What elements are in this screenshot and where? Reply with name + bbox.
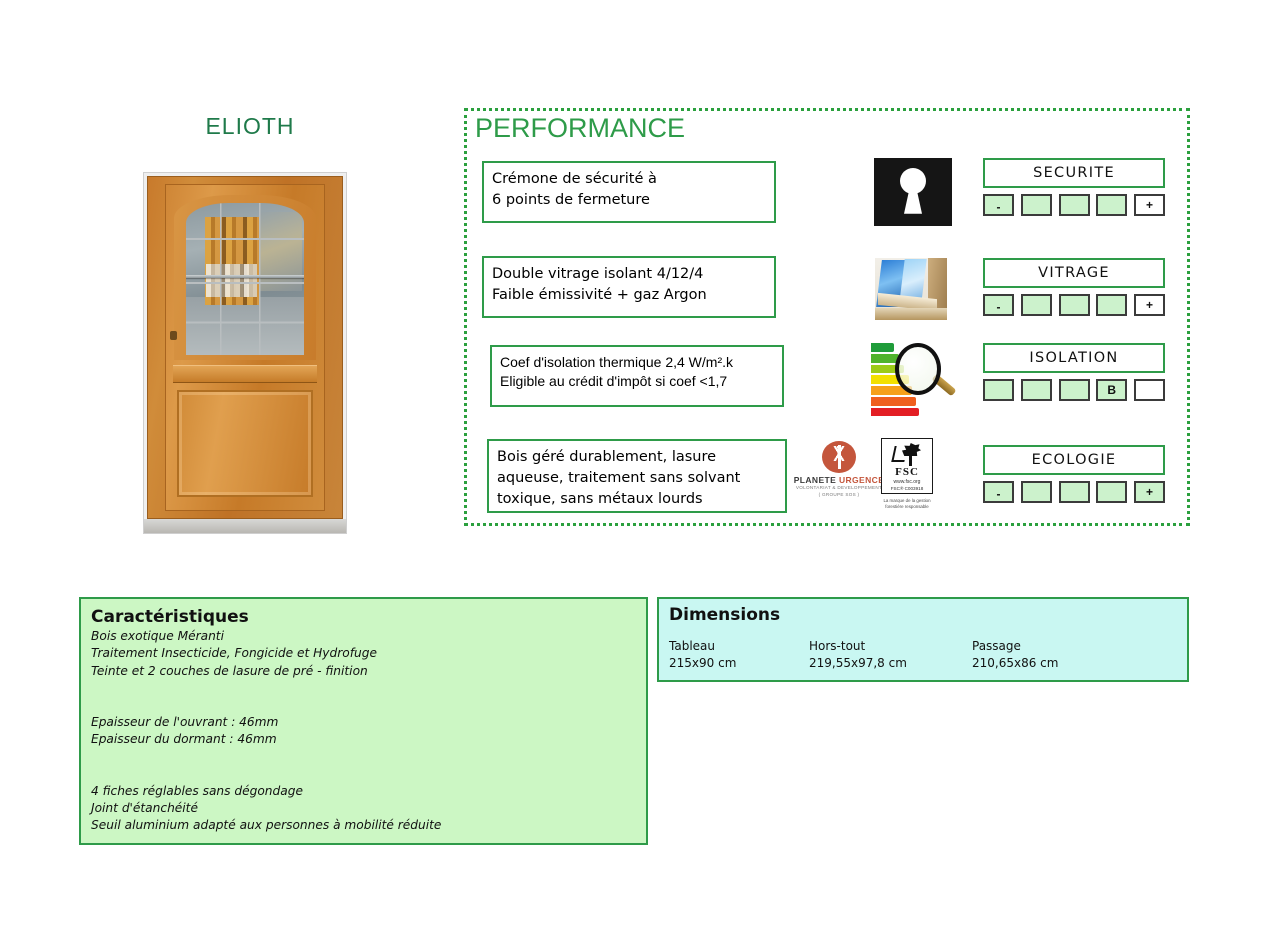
feature-line: 6 points de fermeture [492,190,766,211]
feature-box-ecology: Bois géré durablement, lasure aqueuse, t… [487,439,787,513]
feature-line: toxique, sans métaux lourds [497,489,777,510]
dimension-column-hors-tout: Hors-tout 219,55x97,8 cm [809,638,972,673]
rating-cell[interactable] [1021,481,1052,503]
feature-line: Faible émissivité + gaz Argon [492,285,766,306]
urgence-word: URGENCE [839,475,884,485]
characteristics-line: Epaisseur du dormant : 46mm [91,731,636,748]
dimensions-table: Tableau 215x90 cm Hors-tout 219,55x97,8 … [669,638,1177,673]
rating-group-ecologie: ECOLOGIE - + [983,445,1165,503]
fsc-logo-box: FSC www.fsc.org FSC® C003918 [881,438,933,494]
spacer [91,697,636,714]
rating-label: ISOLATION [983,343,1165,373]
performance-panel: PERFORMANCE Crémone de sécurité à 6 poin… [464,108,1190,526]
keyhole-icon [874,158,952,226]
fsc-tree-checkmark-icon [893,442,921,466]
fsc-code: FSC® C003918 [882,486,932,491]
characteristics-line: Joint d'étanchéité [91,800,636,817]
characteristics-line: Epaisseur de l'ouvrant : 46mm [91,714,636,731]
product-photo [143,172,347,534]
magnifier-lens [895,343,941,395]
characteristics-panel: Caractéristiques Bois exotique Méranti T… [79,597,648,845]
planete-urgence-name: PLANETE URGENCE [785,475,893,485]
rating-cell[interactable] [1021,294,1052,316]
planete-urgence-group: ( GROUPE SOS ) [785,492,893,497]
rating-cell[interactable]: - [983,294,1014,316]
rating-group-securite: SECURITE - + [983,158,1165,216]
glass-grille-icon [186,203,305,356]
feature-line: Crémone de sécurité à [492,169,766,190]
rating-cell[interactable] [1059,194,1090,216]
fsc-caption: La marque de la gestion forestière respo… [881,498,933,510]
window-glazing-icon [875,258,947,320]
dimension-header: Tableau [669,638,809,655]
door-frame [147,176,343,519]
rating-scale: - + [983,481,1165,503]
rating-cell[interactable] [1021,379,1052,401]
feature-box-security: Crémone de sécurité à 6 points de fermet… [482,161,776,223]
fsc-tree-trunk [909,454,912,466]
fsc-website: www.fsc.org [882,479,932,485]
feature-line: Bois géré durablement, lasure [497,447,777,468]
rating-cell[interactable] [1096,481,1127,503]
dimensions-title: Dimensions [669,605,1177,625]
tree-icon [822,441,856,473]
fsc-acronym: FSC [882,466,932,478]
characteristics-line: 4 fiches réglables sans dégondage [91,783,636,800]
characteristics-line: Teinte et 2 couches de lasure de pré - f… [91,663,636,680]
feature-box-insulation: Coef d'isolation thermique 2,4 W/m².k El… [490,345,784,407]
characteristics-line: Bois exotique Méranti [91,628,636,645]
feature-line: Double vitrage isolant 4/12/4 [492,264,766,285]
rating-cell[interactable] [983,379,1014,401]
photo-floor [144,519,346,533]
rating-cell[interactable] [1096,194,1127,216]
keyhole-shape [900,168,926,194]
dimension-column-passage: Passage 210,65x86 cm [972,638,1132,673]
performance-title: PERFORMANCE [475,113,685,144]
glass-grille-bar [186,275,305,278]
door-lower-panel [177,390,312,497]
fsc-logo: FSC www.fsc.org FSC® C003918 La marque d… [881,438,933,514]
rating-scale: - + [983,294,1165,316]
rating-cell[interactable]: - [983,194,1014,216]
window-base [875,308,947,320]
rating-cell[interactable]: + [1134,194,1165,216]
rating-cell[interactable] [1059,294,1090,316]
rating-cell[interactable]: + [1134,481,1165,503]
characteristics-line: Seuil aluminium adapté aux personnes à m… [91,817,636,834]
spacer [91,680,636,697]
rating-label: VITRAGE [983,258,1165,288]
characteristics-line: Traitement Insecticide, Fongicide et Hyd… [91,645,636,662]
door-handle-icon [170,331,177,340]
planete-urgence-logo: PLANETE URGENCE VOLONTARIAT & DEVELOPPEM… [785,441,893,499]
door-leaf [165,184,324,511]
dimension-column-tableau: Tableau 215x90 cm [669,638,809,673]
rating-scale: B [983,379,1165,401]
rating-cell[interactable] [1096,294,1127,316]
characteristics-title: Caractéristiques [91,607,636,627]
rating-label: ECOLOGIE [983,445,1165,475]
dimension-header: Passage [972,638,1132,655]
dimension-value: 219,55x97,8 cm [809,655,972,672]
dimensions-panel: Dimensions Tableau 215x90 cm Hors-tout 2… [657,597,1189,682]
rating-scale: - + [983,194,1165,216]
dimension-header: Hors-tout [809,638,972,655]
dimension-value: 215x90 cm [669,655,809,672]
rating-group-isolation: ISOLATION B [983,343,1165,401]
rating-label: SECURITE [983,158,1165,188]
feature-box-glazing: Double vitrage isolant 4/12/4 Faible émi… [482,256,776,318]
spacer [91,766,636,783]
door-glass-surround [174,195,315,361]
spacer [91,749,636,766]
door-glass-panel [186,203,305,356]
planete-urgence-tagline: VOLONTARIAT & DEVELOPPEMENT [785,485,893,490]
rating-cell[interactable] [1021,194,1052,216]
rating-cell[interactable] [1134,379,1165,401]
rating-cell[interactable] [1059,379,1090,401]
rating-cell[interactable] [1059,481,1090,503]
planete-word: PLANETE [794,475,839,485]
rating-cell[interactable]: B [1096,379,1127,401]
energy-label-magnifier-icon [871,339,957,411]
rating-cell[interactable]: - [983,481,1014,503]
door-rail [173,365,318,383]
dimension-value: 210,65x86 cm [972,655,1132,672]
rating-cell[interactable]: + [1134,294,1165,316]
rating-group-vitrage: VITRAGE - + [983,258,1165,316]
feature-line: Eligible au crédit d'impôt si coef <1,7 [500,372,774,391]
feature-line: aqueuse, traitement sans solvant [497,468,777,489]
feature-line: Coef d'isolation thermique 2,4 W/m².k [500,353,774,372]
product-title: ELIOTH [150,113,350,140]
